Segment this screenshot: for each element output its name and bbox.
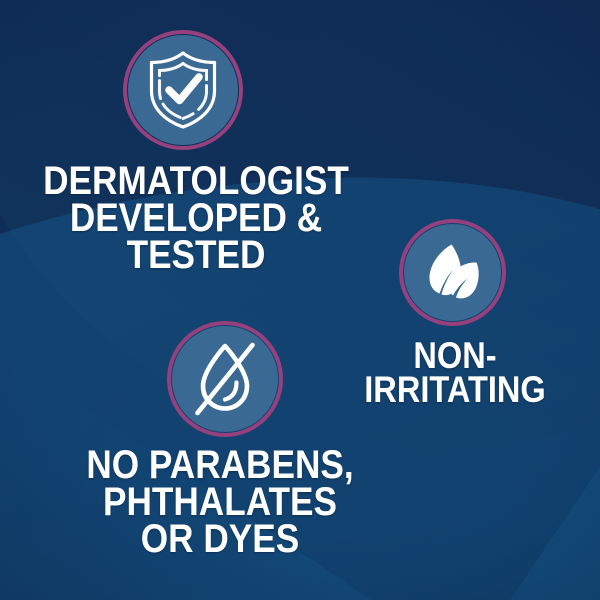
shield-check-icon xyxy=(144,49,222,131)
feather-icon xyxy=(420,240,486,306)
claim-text-no-parabens: NO PARABENS, PHTHALATES OR DYES xyxy=(79,447,361,559)
no-droplet-icon xyxy=(188,340,262,418)
shield-check-badge xyxy=(128,35,238,145)
no-droplet-badge xyxy=(172,326,278,432)
claim-text-dermatologist: DERMATOLOGIST DEVELOPED & TESTED xyxy=(24,163,369,275)
feather-badge xyxy=(404,224,501,321)
product-claims-poster: DERMATOLOGIST DEVELOPED & TESTED NON-IRR… xyxy=(0,0,600,600)
claim-text-non-irritating: NON-IRRITATING xyxy=(327,339,582,408)
